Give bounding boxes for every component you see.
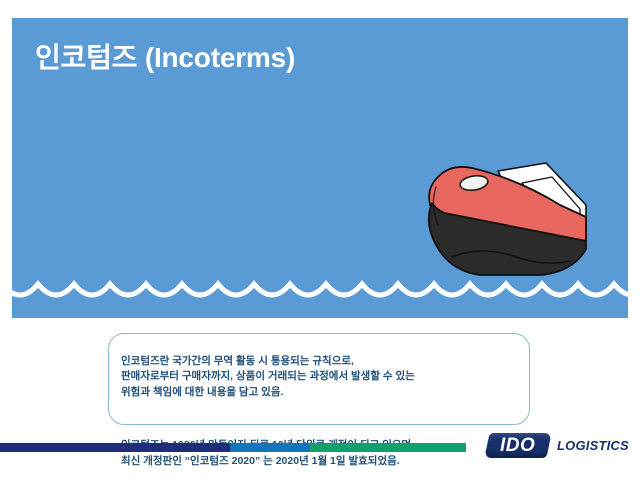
footer-accent-bar (0, 443, 466, 452)
cargo-ship-icon (410, 153, 620, 283)
paragraph-spacer (121, 416, 521, 423)
description-text-group: 인코텀즈란 국가간의 무역 활동 시 통용되는 규칙으로, 판매자로부터 구매자… (121, 338, 521, 485)
accent-segment-green (310, 443, 466, 452)
page-title: 인코텀즈 (Incoterms) (35, 42, 295, 74)
company-logo: IDO LOGISTICS (487, 430, 635, 460)
cargo-ship-illustration (410, 153, 620, 283)
logo-mark-shape: IDO (484, 433, 551, 458)
logo-mark-text: IDO (500, 436, 535, 455)
accent-segment-blue (230, 443, 310, 452)
accent-segment-navy (0, 443, 230, 452)
logo-wordmark: LOGISTICS (557, 439, 629, 452)
description-box: 인코텀즈란 국가간의 무역 활동 시 통용되는 규칙으로, 판매자로부터 구매자… (108, 333, 530, 425)
description-paragraph-1: 인코텀즈란 국가간의 무역 활동 시 통용되는 규칙으로, 판매자로부터 구매자… (121, 354, 521, 401)
wave-decoration (12, 278, 628, 318)
slide-canvas: 인코텀즈 (Incoterms) (0, 0, 640, 480)
wave-icon (12, 278, 628, 318)
hero-panel: 인코텀즈 (Incoterms) (12, 18, 628, 318)
